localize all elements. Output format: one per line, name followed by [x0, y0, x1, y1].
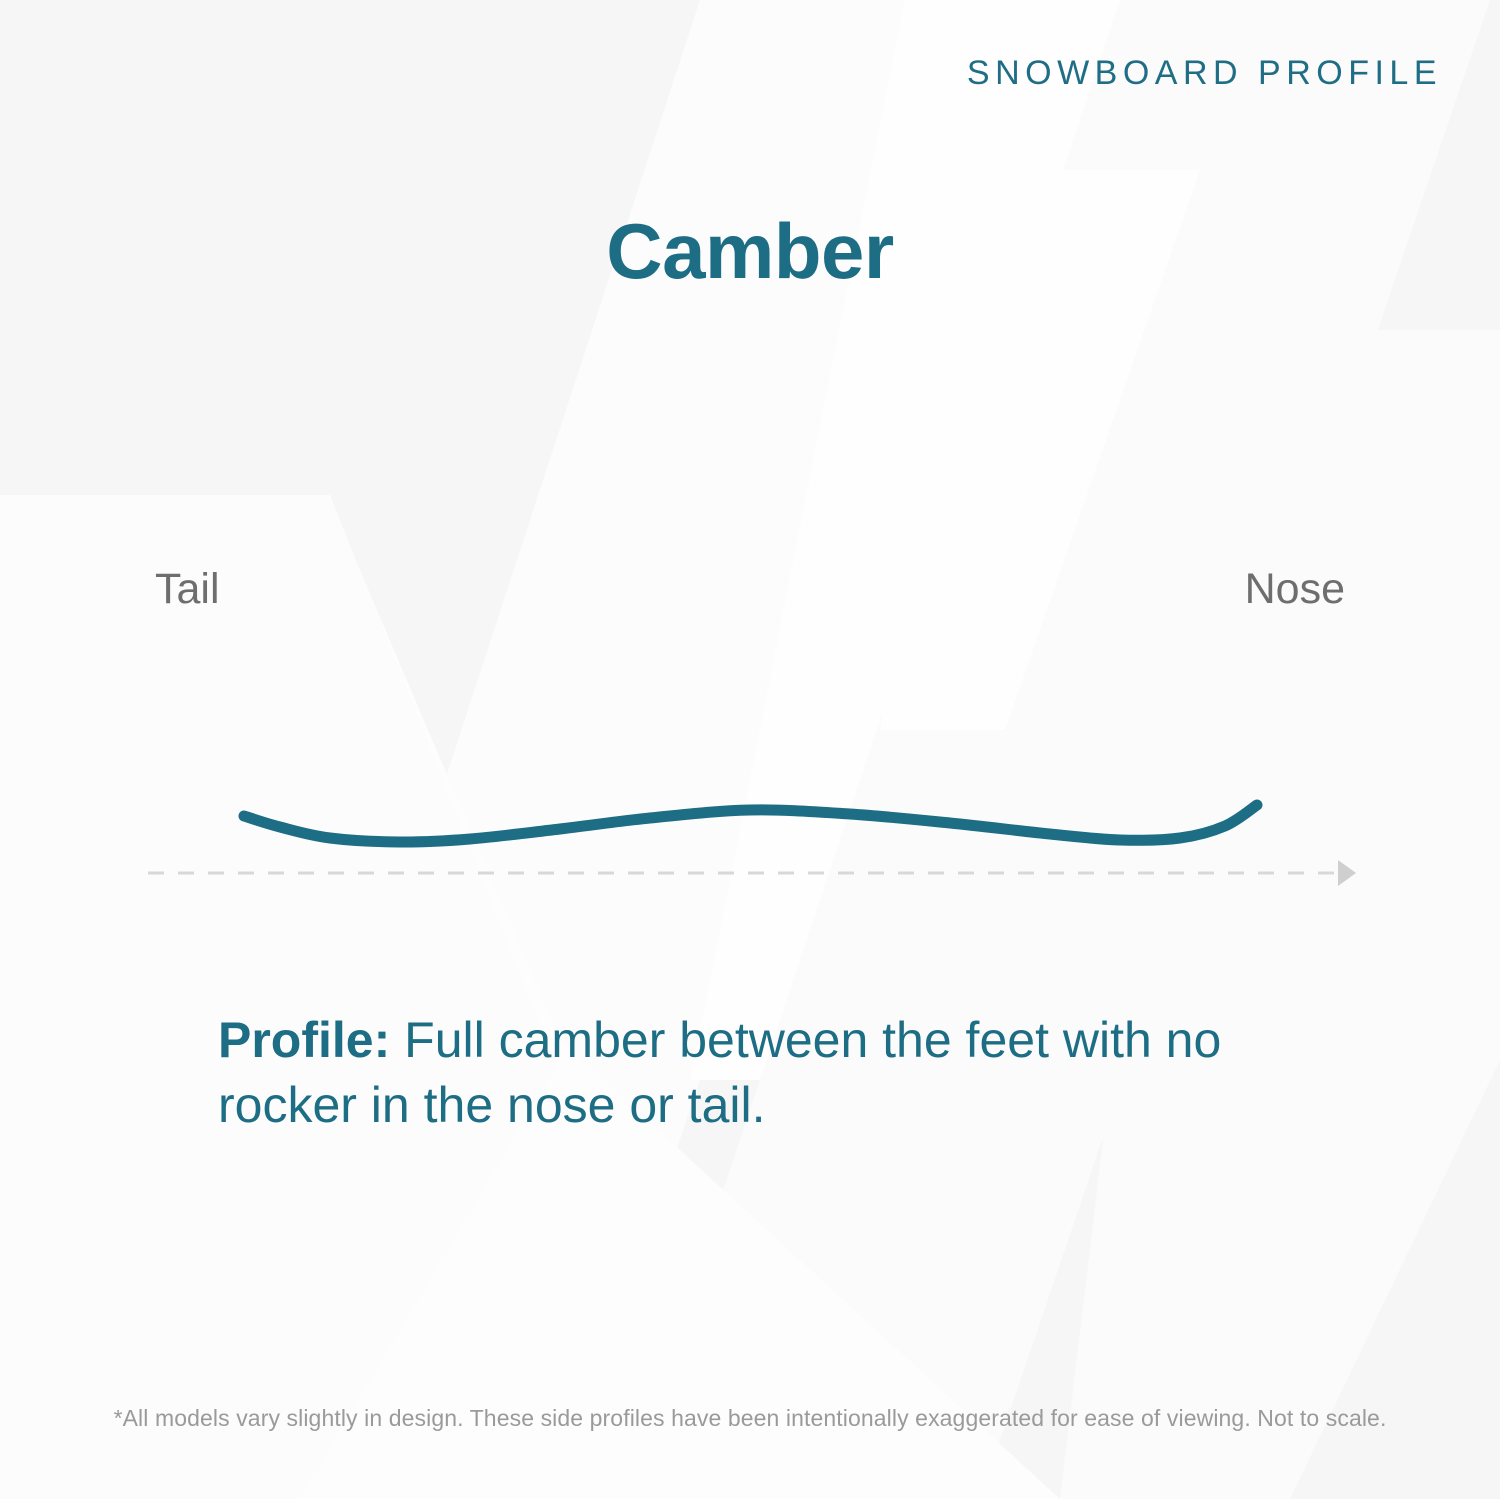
camber-profile-curve [244, 805, 1257, 842]
arrow-right-icon [1338, 860, 1356, 886]
profile-description-lead: Profile: [218, 1012, 390, 1068]
label-tail: Tail [155, 565, 220, 614]
label-nose: Nose [1245, 565, 1345, 614]
page-title: Camber [0, 206, 1500, 297]
profile-description: Profile: Full camber between the feet wi… [218, 1008, 1318, 1138]
eyebrow-heading: SNOWBOARD PROFILE [967, 54, 1442, 93]
snowboard-profile-diagram [0, 720, 1500, 940]
poster-canvas: SNOWBOARD PROFILE Camber Tail Nose Profi… [0, 0, 1500, 1499]
footnote-disclaimer: *All models vary slightly in design. The… [0, 1405, 1500, 1432]
